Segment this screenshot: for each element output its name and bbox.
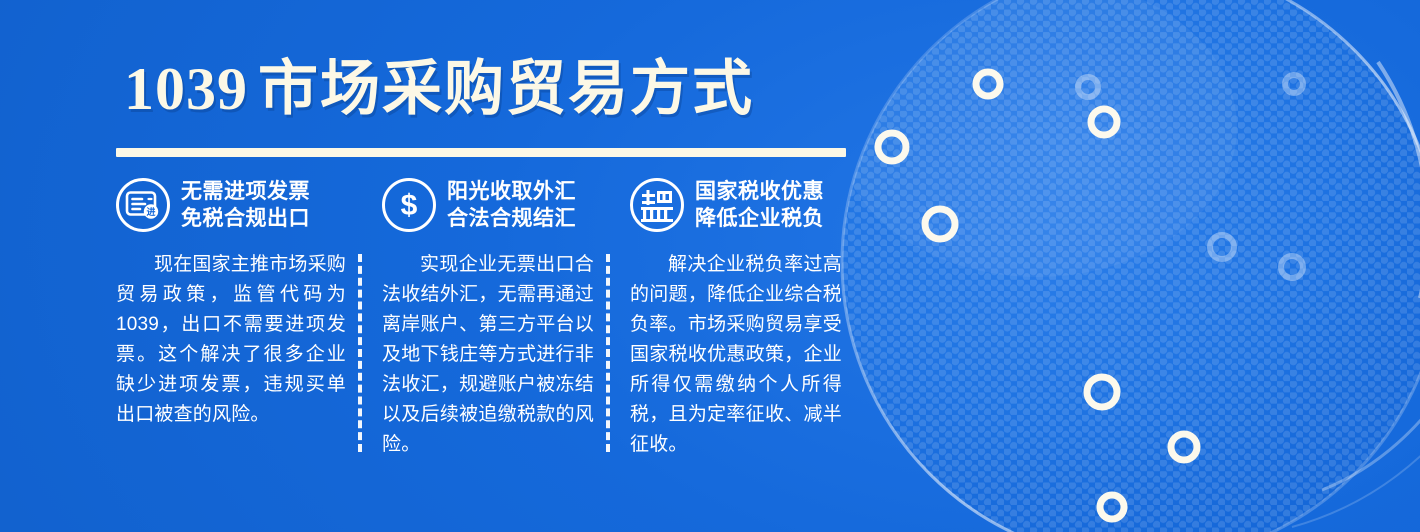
dollar-glyph: $ bbox=[401, 189, 418, 222]
title-number: 1039 bbox=[124, 56, 258, 122]
feature-column-tax: 国家税收优惠 降低企业税负 解决企业税负率过高的问题，降低企业综合税负率。市场采… bbox=[612, 174, 860, 474]
feature-body-tax: 解决企业税负率过高的问题，降低企业综合税负率。市场采购贸易享受国家税收优惠政策，… bbox=[630, 250, 846, 460]
invoice-badge-label: 进 bbox=[146, 206, 155, 217]
invoice-document-icon: 进 bbox=[116, 178, 170, 232]
tax-building-icon bbox=[630, 178, 684, 232]
feature-heading-text-invoice: 无需进项发票 免税合规出口 bbox=[181, 178, 310, 232]
heading-line-2: 降低企业税负 bbox=[695, 205, 824, 232]
column-divider-dashed bbox=[606, 254, 610, 452]
heading-line-1: 无需进项发票 bbox=[181, 180, 310, 203]
heading-line-1: 国家税收优惠 bbox=[695, 180, 824, 203]
dotted-world-globe-graphic bbox=[822, 0, 1420, 532]
feature-heading-forex: $ 阳光收取外汇 合法合规结汇 bbox=[382, 174, 598, 236]
feature-column-forex: $ 阳光收取外汇 合法合规结汇 实现企业无票出口合法收结外汇，无需再通过离岸账户… bbox=[364, 174, 612, 474]
banner-content: 1039市场采购贸易方式 进 bbox=[0, 0, 900, 532]
title-text: 市场采购贸易方式 bbox=[258, 56, 754, 122]
feature-columns: 进 无需进项发票 免税合规出口 现在国家主推市场采购贸易政策，监管代码为 103… bbox=[116, 174, 862, 474]
heading-line-2: 合法合规结汇 bbox=[447, 205, 576, 232]
column-divider-dashed bbox=[358, 254, 362, 452]
heading-line-1: 阳光收取外汇 bbox=[447, 180, 576, 203]
feature-column-invoice: 进 无需进项发票 免税合规出口 现在国家主推市场采购贸易政策，监管代码为 103… bbox=[116, 174, 364, 474]
feature-heading-text-forex: 阳光收取外汇 合法合规结汇 bbox=[447, 178, 576, 232]
feature-heading-tax: 国家税收优惠 降低企业税负 bbox=[630, 174, 846, 236]
promo-banner: 1039市场采购贸易方式 进 bbox=[0, 0, 1420, 532]
heading-line-2: 免税合规出口 bbox=[181, 205, 310, 232]
page-title: 1039市场采购贸易方式 bbox=[124, 52, 754, 126]
feature-body-invoice: 现在国家主推市场采购贸易政策，监管代码为 1039，出口不需要进项发票。这个解决… bbox=[116, 250, 350, 430]
feature-heading-text-tax: 国家税收优惠 降低企业税负 bbox=[695, 178, 824, 232]
feature-heading-invoice: 进 无需进项发票 免税合规出口 bbox=[116, 174, 350, 236]
feature-body-forex: 实现企业无票出口合法收结外汇，无需再通过离岸账户、第三方平台以及地下钱庄等方式进… bbox=[382, 250, 598, 460]
dollar-currency-icon: $ bbox=[382, 178, 436, 232]
title-underline-rule bbox=[116, 148, 846, 157]
